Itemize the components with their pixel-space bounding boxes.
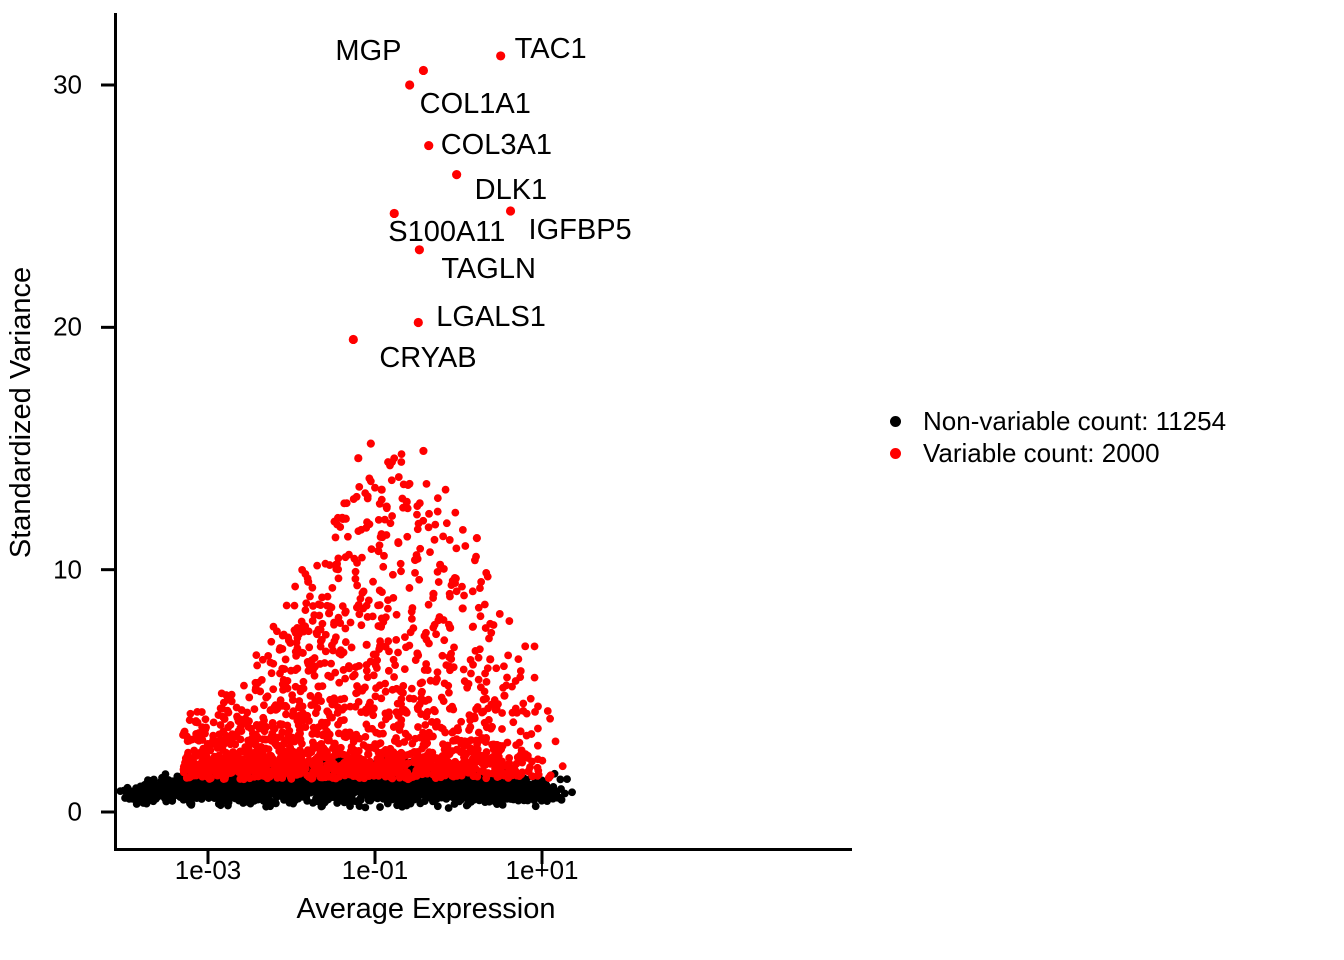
gene-label-dlk1: DLK1 [475,174,548,207]
gene-label-col3a1: COL3A1 [441,129,552,162]
legend-item-variable[interactable]: Variable count: 2000 [890,437,1226,469]
x-tick-label-1: 1e-01 [342,855,409,886]
legend-dot-black-icon [890,416,901,427]
gene-label-igfbp5: IGFBP5 [529,214,632,247]
gene-point-col3a1[interactable] [424,141,433,150]
gene-label-cryab: CRYAB [379,342,476,375]
legend-label-variable: Variable count: 2000 [923,438,1160,469]
gene-point-cryab[interactable] [349,335,358,344]
gene-point-igfbp5[interactable] [506,206,515,215]
scatter-plot-svg [0,0,1344,960]
x-tick-label-2: 1e+01 [505,855,578,886]
gene-point-tac1[interactable] [496,51,505,60]
gene-label-lgals1: LGALS1 [436,301,546,334]
gene-point-col1a1[interactable] [405,80,414,89]
gene-label-tac1: TAC1 [515,33,587,66]
gene-point-dlk1[interactable] [452,170,461,179]
y-tick-label-0: 0 [68,797,82,828]
y-tick-label-1: 10 [53,554,82,585]
gene-label-mgp: MGP [335,35,401,68]
gene-label-s100a11: S100A11 [388,216,505,249]
x-tick-label-0: 1e-03 [175,855,242,886]
y-tick-label-2: 20 [53,312,82,343]
y-axis-title-text: Standardized Variance [6,267,39,558]
gene-label-tagln: TAGLN [441,253,536,286]
chart-canvas: 1e-031e-011e+010102030 MGPTAC1COL1A1COL3… [0,0,1344,960]
gene-point-lgals1[interactable] [414,318,423,327]
x-axis-title: Average Expression [0,893,852,926]
legend-label-non-variable: Non-variable count: 11254 [923,406,1226,437]
gene-label-col1a1: COL1A1 [420,88,531,121]
legend: Non-variable count: 11254 Variable count… [890,405,1226,469]
legend-dot-red-icon [890,448,901,459]
data-points-layer [116,440,576,812]
gene-point-mgp[interactable] [419,66,428,75]
y-tick-label-3: 30 [53,70,82,101]
legend-item-non-variable[interactable]: Non-variable count: 11254 [890,405,1226,437]
y-axis-title: Standardized Variance [0,0,44,825]
